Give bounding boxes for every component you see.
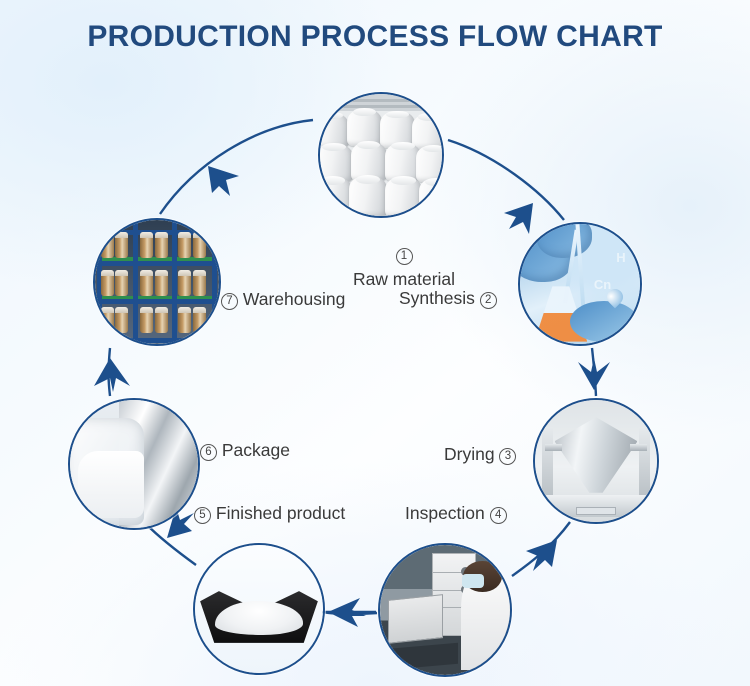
step-label-finished-product: Finished product — [216, 503, 345, 523]
step-label-warehousing: Warehousing — [243, 289, 345, 309]
arrowhead-to-raw-material — [208, 166, 239, 196]
stacked-white-sacks-image — [320, 94, 442, 216]
lab-technician-instrument-image — [380, 545, 510, 675]
step-number-7: 7 — [221, 293, 238, 310]
arrowhead-to-drying — [578, 358, 610, 390]
label-inspection: Inspection 4 — [405, 503, 507, 524]
step-number-2: 2 — [480, 292, 497, 309]
step-number-1: 1 — [396, 248, 413, 265]
node-package-photo[interactable] — [68, 398, 200, 530]
label-raw-material: 1 Raw material — [320, 248, 488, 290]
step-label-synthesis: Synthesis — [399, 288, 475, 308]
step-label-inspection: Inspection — [405, 503, 485, 523]
label-finished-product: 5 Finished product — [194, 503, 345, 524]
step-number-3: 3 — [499, 448, 516, 465]
arrowhead-to-warehousing — [94, 358, 130, 392]
node-warehousing-photo[interactable] — [93, 218, 221, 346]
label-package: 6 Package — [200, 440, 290, 461]
node-synthesis-photo[interactable]: H Cn — [518, 222, 642, 346]
step-label-drying: Drying — [444, 444, 495, 464]
step-label-raw-material: Raw material — [353, 269, 455, 289]
node-finished-product-photo[interactable] — [193, 543, 325, 675]
connector-warehousing-to-raw-material — [160, 120, 313, 214]
production-flow-chart-page: PRODUCTION PROCESS FLOW CHART — [0, 0, 750, 686]
step-number-4: 4 — [490, 507, 507, 524]
step-label-package: Package — [222, 440, 290, 460]
arrowhead-to-inspection — [526, 540, 557, 571]
label-synthesis: Synthesis 2 — [399, 288, 497, 309]
node-inspection-photo[interactable] — [378, 543, 512, 677]
node-drying-photo[interactable] — [533, 398, 659, 524]
warehouse-racks-image — [95, 220, 219, 344]
step-number-5: 5 — [194, 507, 211, 524]
blue-laboratory-synthesis-image: H Cn — [520, 224, 640, 344]
connector-raw-material-to-synthesis — [448, 140, 564, 220]
step-number-6: 6 — [200, 444, 217, 461]
label-drying: Drying 3 — [444, 444, 516, 465]
node-raw-material-photo[interactable] — [318, 92, 444, 218]
label-warehousing: 7 Warehousing — [221, 289, 345, 310]
white-powder-black-dish-image — [195, 545, 323, 673]
double-cone-dryer-image — [535, 400, 657, 522]
packaging-bags-image — [70, 400, 198, 528]
